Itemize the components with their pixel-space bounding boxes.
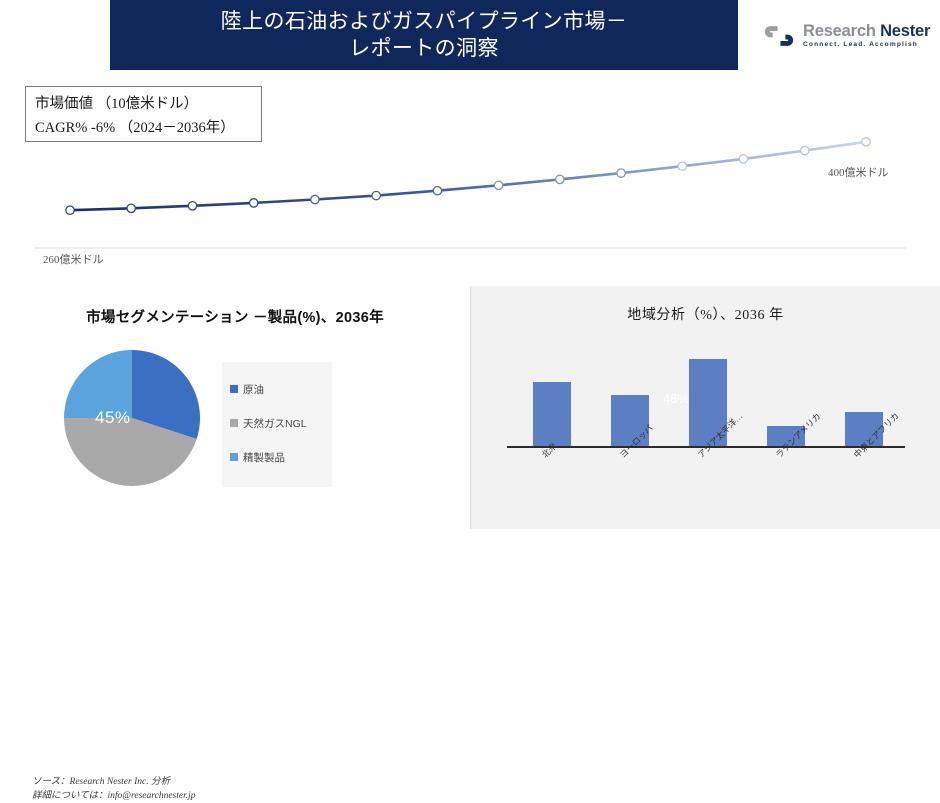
logo-text: Research Nester Connect. Lead. Accomplis… — [803, 23, 930, 49]
source-footnote: ソース：Research Nester Inc. 分析 詳細については：info… — [32, 775, 196, 803]
market-value-box: 市場価値 （10億米ドル） CAGR% -6% （2024－2036年） — [25, 86, 262, 142]
line-data-point — [617, 169, 625, 177]
pie-svg — [62, 348, 202, 488]
segmentation-pie-chart — [62, 348, 202, 488]
line-data-point — [188, 202, 196, 210]
line-series-markers — [66, 138, 870, 215]
line-data-point — [556, 175, 564, 183]
legend-item-refined-products[interactable]: 精製製品 — [230, 440, 324, 474]
pie-legend: 原油 天然ガスNGL 精製製品 — [222, 362, 332, 487]
line-data-point — [311, 195, 319, 203]
legend-label-natural-gas-ngl: 天然ガスNGL — [243, 416, 307, 431]
logo-word-nester: Nester — [880, 22, 930, 40]
logo-word-research: Research — [803, 22, 880, 40]
brand-logo: Research Nester Connect. Lead. Accomplis… — [762, 16, 932, 56]
legend-label-refined-products: 精製製品 — [243, 450, 285, 465]
segmentation-title: 市場セグメンテーション －製品(%)、2036年 — [0, 306, 470, 327]
legend-item-crude-oil[interactable]: 原油 — [230, 372, 324, 406]
page-title: 陸上の石油およびガスパイプライン市場－ レポートの洞察 — [221, 8, 628, 62]
market-value-line-2: CAGR% -6% （2024－2036年） — [35, 116, 252, 140]
legend-swatch-natural-gas-ngl — [230, 419, 238, 427]
line-end-value-label: 400億米ドル — [828, 164, 889, 180]
legend-swatch-crude-oil — [230, 385, 238, 393]
logo-mark-icon — [762, 24, 796, 48]
header-band: 陸上の石油およびガスパイプライン市場－ レポートの洞察 — [110, 0, 738, 70]
line-data-point — [739, 155, 747, 163]
legend-label-crude-oil: 原油 — [243, 382, 264, 397]
regional-bar-chart — [513, 346, 903, 446]
line-data-point — [494, 181, 502, 189]
line-data-point — [433, 187, 441, 195]
line-series-path — [70, 142, 866, 210]
line-data-point — [66, 206, 74, 214]
regional-analysis-title: 地域分析（%）、2036 年 — [471, 304, 940, 324]
legend-item-natural-gas-ngl[interactable]: 天然ガスNGL — [230, 406, 324, 440]
pie-data-label: 45% — [95, 408, 131, 428]
line-data-point — [801, 146, 809, 154]
legend-swatch-refined-products — [230, 453, 238, 461]
segmentation-panel: 市場セグメンテーション －製品(%)、2036年 45% 原油 天然ガスNGL … — [0, 286, 470, 529]
regional-analysis-panel: 地域分析（%）、2036 年 北米ヨーロッパアジア太平洋…ラテンアメリカ中東とア… — [470, 286, 940, 529]
bar-data-label: 48% — [663, 391, 689, 406]
line-data-point — [862, 138, 870, 146]
line-data-point — [250, 199, 258, 207]
line-data-point — [372, 191, 380, 199]
line-data-point — [127, 204, 135, 212]
line-start-value-label: 260億米ドル — [43, 251, 104, 267]
logo-tagline: Connect. Lead. Accomplish — [803, 42, 930, 49]
market-value-line-1: 市場価値 （10億米ドル） — [35, 92, 252, 116]
bar[interactable] — [533, 382, 571, 446]
line-data-point — [678, 162, 686, 170]
